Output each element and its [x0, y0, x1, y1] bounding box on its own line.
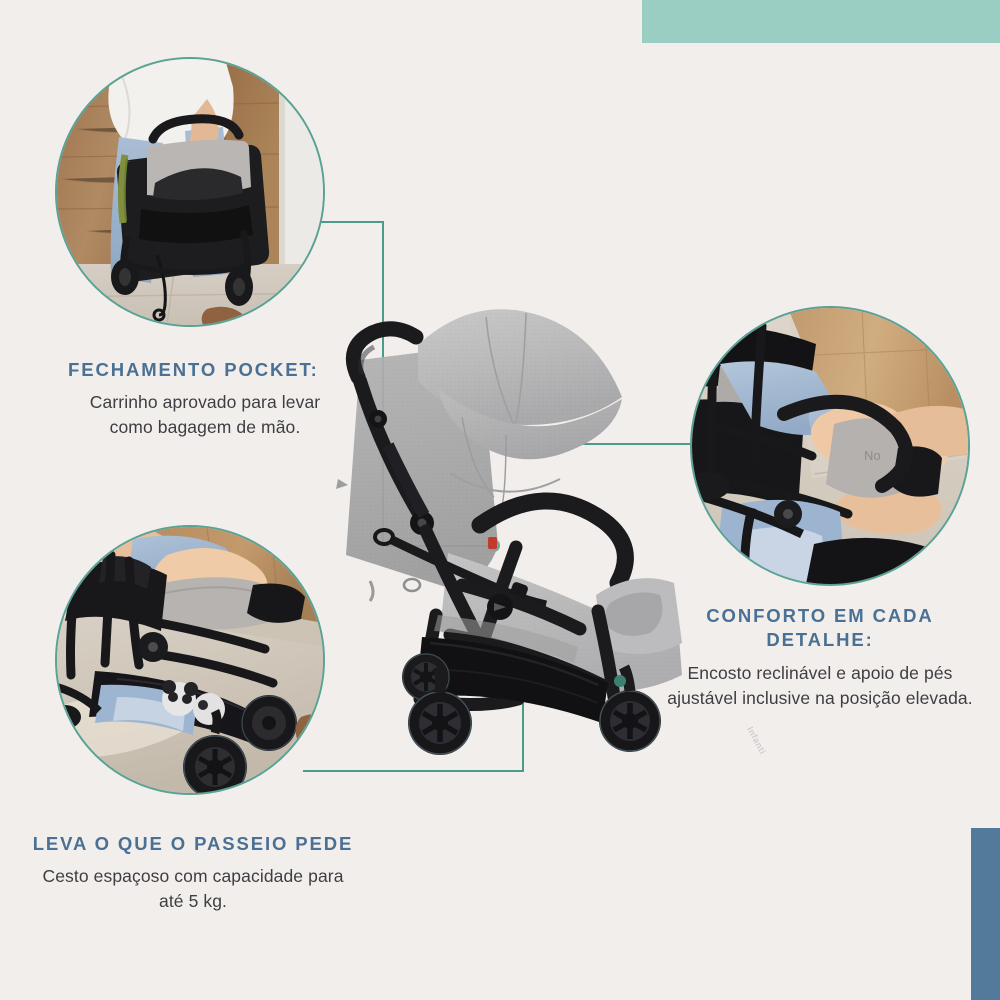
- feature-photo-leva: [55, 525, 325, 795]
- feature-photo-conforto: i No: [690, 306, 970, 586]
- top-right-accent-bar: [642, 0, 1000, 43]
- svg-text:No: No: [864, 448, 881, 463]
- feature-text-leva: LEVA O QUE O PASSEIO PEDE Cesto espaçoso…: [28, 832, 358, 914]
- feature-description-conforto: Encosto reclinável e apoio de pés ajustá…: [655, 661, 985, 711]
- feature-title-fechamento: FECHAMENTO POCKET:: [68, 358, 352, 382]
- feature-text-fechamento: FECHAMENTO POCKET: Carrinho aprovado par…: [0, 358, 352, 440]
- feature-text-conforto: CONFORTO EM CADA DETALHE: Encosto reclin…: [655, 604, 985, 711]
- feature-title-leva: LEVA O QUE O PASSEIO PEDE: [28, 832, 358, 856]
- product-illustration-stroller: Infanti: [330, 285, 710, 775]
- bottom-right-accent-bar: [971, 828, 1000, 1000]
- feature-description-leva: Cesto espaçoso com capacidade para até 5…: [28, 864, 358, 914]
- feature-description-fechamento: Carrinho aprovado para levar como bagage…: [68, 390, 352, 440]
- feature-title-conforto: CONFORTO EM CADA DETALHE:: [655, 604, 985, 653]
- feature-photo-fechamento: [55, 57, 325, 327]
- infographic-canvas: i No: [0, 0, 1000, 1000]
- product-brand-logo: Infanti: [745, 725, 768, 756]
